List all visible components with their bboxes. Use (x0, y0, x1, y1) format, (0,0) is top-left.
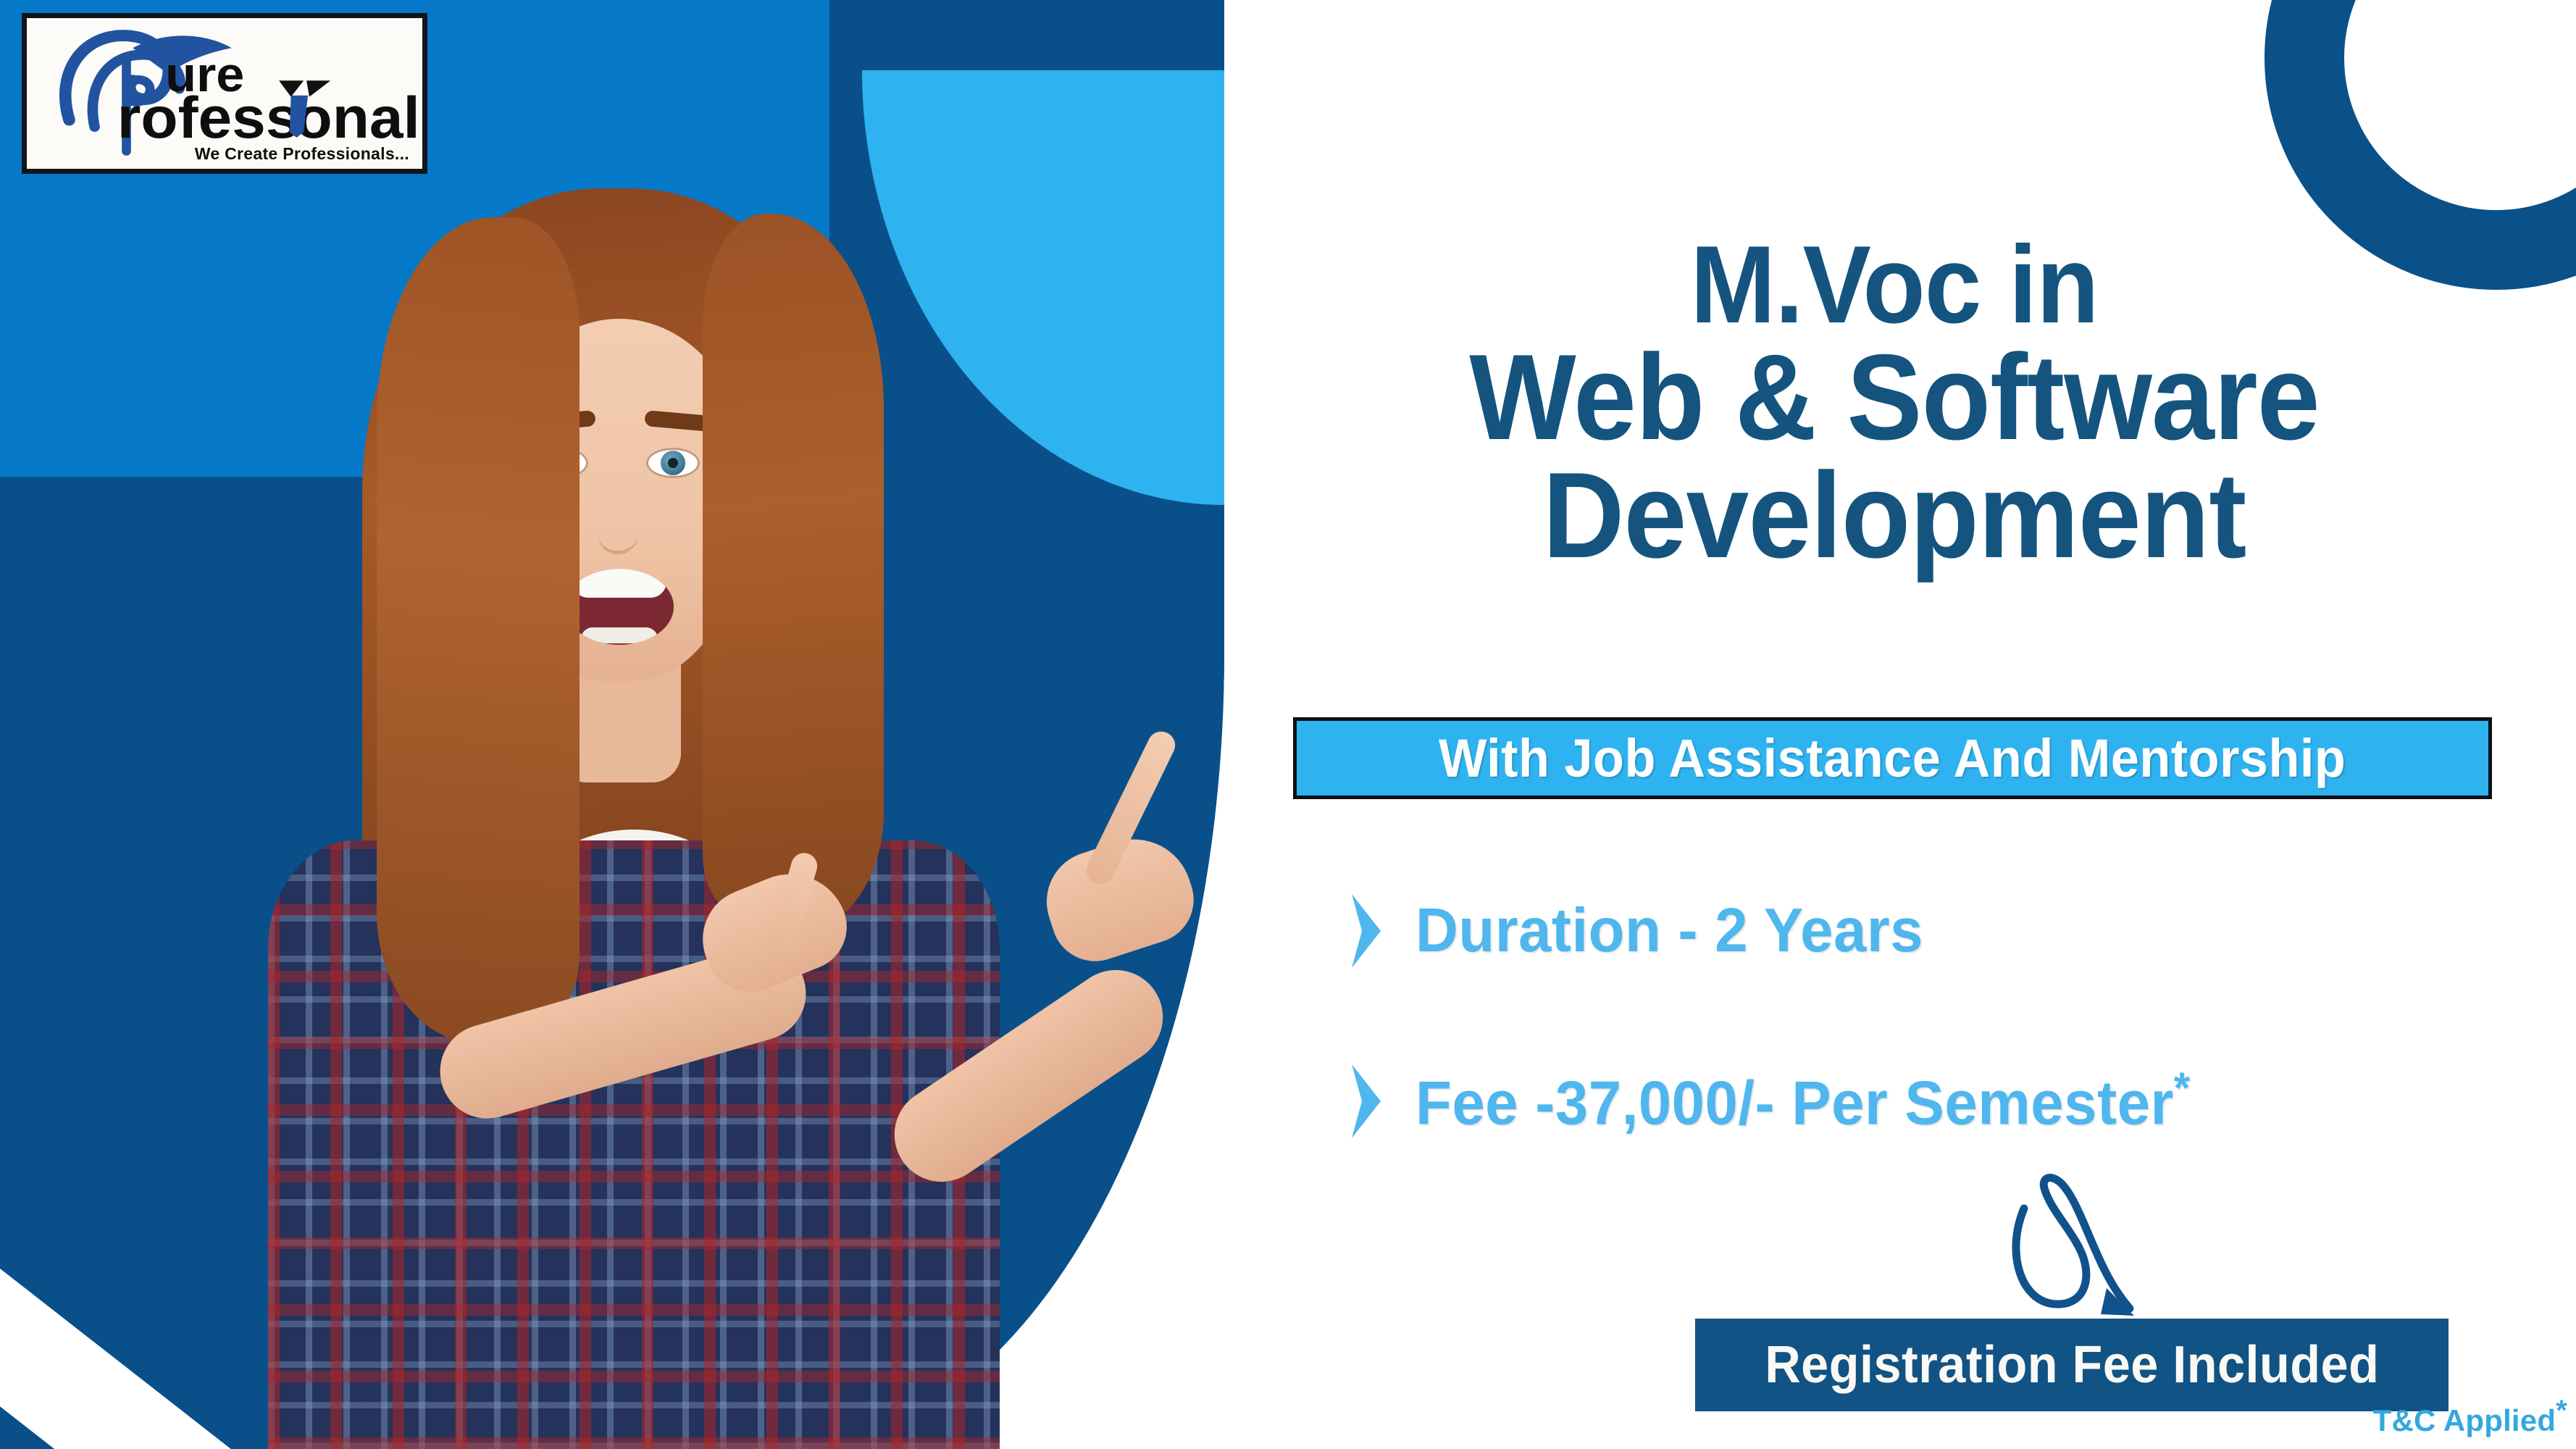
bullet-fee-label: Fee -37,000/- Per Semester* (1415, 1063, 2191, 1139)
iris-right (661, 451, 685, 475)
registration-fee-badge: Registration Fee Included (1695, 1319, 2449, 1411)
headline-line-3: Development (1278, 456, 2511, 575)
upper-teeth (572, 569, 666, 598)
content-column: M.Voc in Web & Software Development With… (1231, 0, 2576, 1449)
nose (598, 485, 638, 554)
chevron-right-icon (1347, 891, 1385, 971)
logo-tagline: We Create Professionals... (195, 144, 409, 164)
promotional-banner: ure rofess onal We Create Professionals.… (0, 0, 2576, 1449)
eye-right (646, 448, 700, 478)
bullet-fee: Fee -37,000/- Per Semester* (1347, 1061, 2222, 1141)
open-smiling-mouth (565, 569, 674, 645)
tc-asterisk: * (2556, 1395, 2567, 1427)
lower-teeth (581, 627, 658, 643)
bullet-fee-asterisk: * (2174, 1064, 2191, 1112)
page-title: M.Voc in Web & Software Development (1278, 232, 2511, 575)
terms-conditions-note: T&C Applied* (2373, 1395, 2567, 1438)
subtitle-text: With Job Assistance And Mentorship (1439, 727, 2346, 789)
bullet-fee-text: Fee -37,000/- Per Semester (1415, 1069, 2174, 1138)
subtitle-banner: With Job Assistance And Mentorship (1293, 717, 2492, 799)
pupil-right (668, 458, 678, 468)
chevron-right-icon (1347, 1061, 1385, 1141)
bullet-duration-label: Duration - 2 Years (1415, 895, 1923, 966)
headline-line-2: Web & Software (1278, 338, 2511, 456)
svg-text:rofess: rofess (117, 85, 300, 150)
curved-arrow-icon (1999, 1166, 2173, 1333)
svg-text:onal: onal (296, 85, 420, 150)
tc-text: T&C Applied (2373, 1403, 2556, 1437)
pure-professional-logo[interactable]: ure rofess onal We Create Professionals.… (22, 13, 427, 174)
headline-line-1: M.Voc in (1278, 232, 2511, 338)
hair-front-right (703, 214, 884, 938)
hair-front-left (377, 217, 580, 1043)
student-photo (123, 174, 1224, 1449)
registration-fee-label: Registration Fee Included (1765, 1335, 2379, 1395)
bullet-duration: Duration - 2 Years (1347, 891, 1944, 971)
